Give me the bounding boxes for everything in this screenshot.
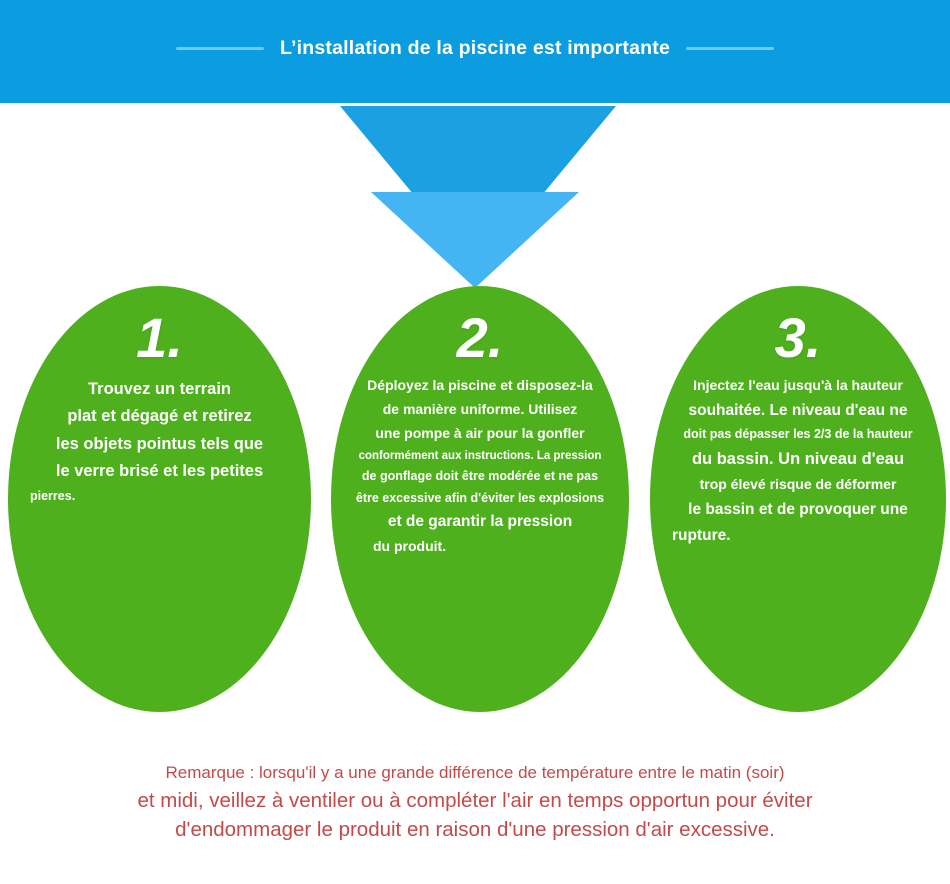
note-line: d'endommager le produit en raison d'une …	[175, 816, 775, 843]
step-line: une pompe à air pour la gonfler	[375, 424, 584, 444]
step-line: trop élevé risque de déformer	[700, 475, 897, 495]
step-line: être excessive afin d'éviter les explosi…	[356, 490, 604, 508]
note-line: et midi, veillez à ventiler ou à complét…	[137, 787, 812, 814]
step-ellipse-3: 3. Injectez l'eau jusqu'à la hauteur sou…	[650, 286, 946, 712]
step-line: Injectez l'eau jusqu'à la hauteur	[693, 376, 903, 396]
infographic-page: L’installation de la piscine est importa…	[0, 0, 950, 884]
note-line: Remarque : lorsqu'il y a une grande diff…	[165, 762, 784, 785]
step-line: de manière uniforme. Utilisez	[383, 400, 578, 420]
step-line: du produit.	[373, 537, 446, 557]
step-line: plat et dégagé et retirez	[67, 405, 251, 428]
step-text-1: Trouvez un terrain plat et dégagé et ret…	[8, 378, 311, 505]
step-line: les objets pointus tels que	[56, 433, 263, 456]
step-number-2: 2.	[457, 310, 504, 366]
step-line: le bassin et de provoquer une	[688, 499, 908, 521]
step-line: pierres.	[30, 488, 75, 506]
header-rule-right-icon	[686, 47, 774, 50]
step-ellipse-2: 2. Déployez la piscine et disposez-la de…	[331, 286, 629, 712]
step-line: du bassin. Un niveau d'eau	[692, 448, 904, 471]
bottom-note: Remarque : lorsqu'il y a une grande diff…	[0, 762, 950, 844]
step-ellipse-1: 1. Trouvez un terrain plat et dégagé et …	[8, 286, 311, 712]
step-text-3: Injectez l'eau jusqu'à la hauteur souhai…	[650, 376, 946, 547]
step-line: et de garantir la pression	[388, 511, 572, 533]
header-rule-left-icon	[176, 47, 264, 50]
step-line: doit pas dépasser les 2/3 de la hauteur	[683, 426, 912, 444]
step-line: souhaitée. Le niveau d'eau ne	[688, 400, 907, 422]
step-line: rupture.	[672, 525, 731, 547]
header-banner: L’installation de la piscine est importa…	[0, 0, 950, 103]
header-inner: L’installation de la piscine est importa…	[176, 37, 774, 60]
step-line: le verre brisé et les petites	[56, 460, 263, 483]
step-line: conformément aux instructions. La pressi…	[359, 448, 602, 464]
step-number-3: 3.	[775, 310, 822, 366]
step-text-2: Déployez la piscine et disposez-la de ma…	[331, 376, 629, 557]
step-line: Trouvez un terrain	[88, 378, 231, 401]
step-number-1: 1.	[136, 310, 183, 366]
page-title: L’installation de la piscine est importa…	[280, 37, 670, 60]
step-line: de gonflage doit être modérée et ne pas	[362, 468, 598, 486]
arrow-down-small-icon	[371, 192, 579, 288]
step-line: Déployez la piscine et disposez-la	[367, 376, 593, 396]
